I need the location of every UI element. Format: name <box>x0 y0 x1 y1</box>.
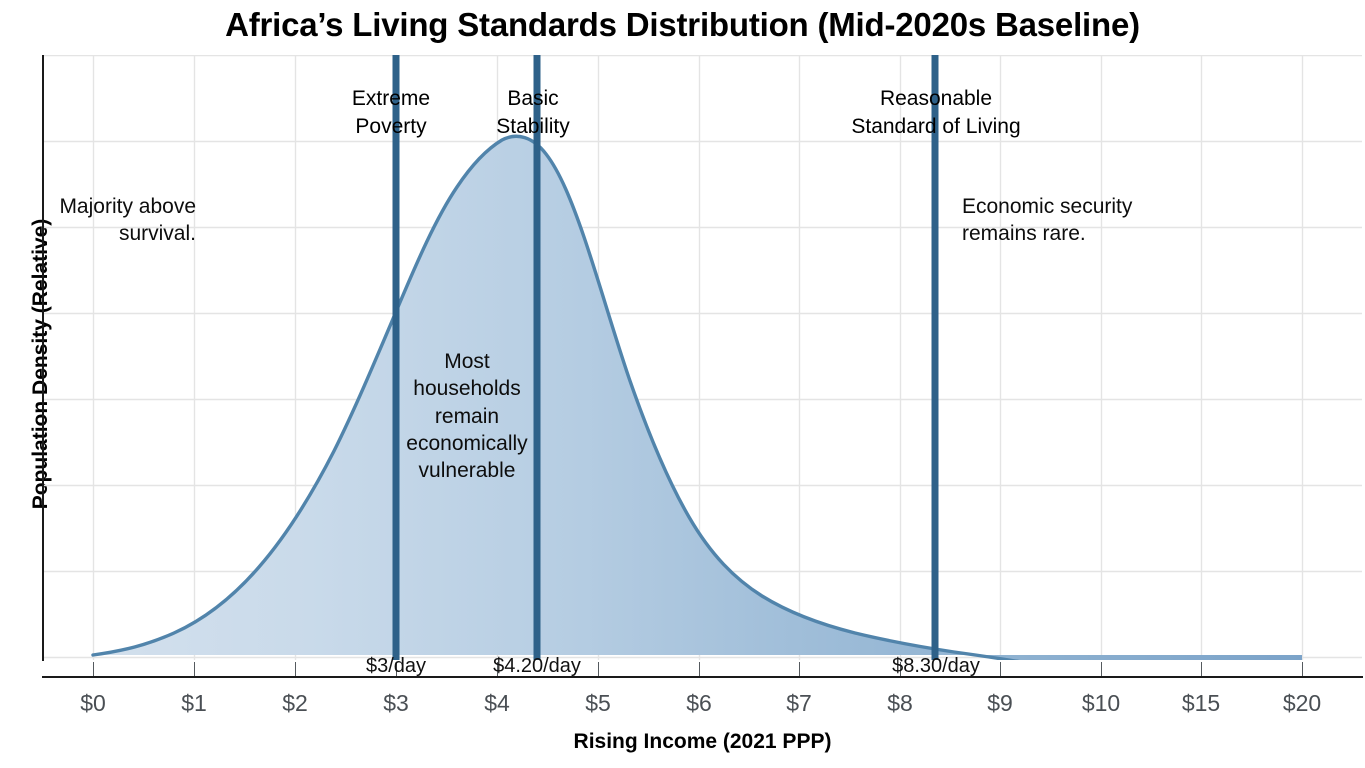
x-tick-label: $10 <box>1082 690 1120 717</box>
x-tick-label: $4 <box>484 690 510 717</box>
x-tick-label: $3 <box>383 690 409 717</box>
plot-area <box>43 55 1362 660</box>
x-tick-mark <box>699 662 700 676</box>
annotation-economic-security-rare: Economic security remains rare. <box>962 193 1192 248</box>
x-tick-label: $2 <box>282 690 308 717</box>
threshold-label-basic-stability: Basic Stability <box>496 85 570 140</box>
x-tick-label: $1 <box>181 690 207 717</box>
annotation-majority-above-survival: Majority above survival. <box>24 193 196 248</box>
x-tick-label: $5 <box>585 690 611 717</box>
chart-root: Africa’s Living Standards Distribution (… <box>0 0 1365 768</box>
annotation-most-households-vulnerable: Most households remain economically vuln… <box>377 348 557 484</box>
threshold-line-reasonable-standard <box>932 55 939 660</box>
threshold-value-extreme-poverty: $3/day <box>366 655 426 678</box>
x-tick-mark <box>1201 662 1202 676</box>
x-tick-label: $6 <box>686 690 712 717</box>
y-axis-spine <box>42 55 44 661</box>
x-tick-mark <box>295 662 296 676</box>
x-tick-mark <box>1000 662 1001 676</box>
x-tick-mark <box>1101 662 1102 676</box>
x-tick-label: $15 <box>1182 690 1220 717</box>
distribution-plot-svg <box>43 55 1362 660</box>
x-tick-mark <box>799 662 800 676</box>
x-tick-label: $20 <box>1283 690 1321 717</box>
x-tick-label: $7 <box>786 690 812 717</box>
threshold-label-extreme-poverty: Extreme Poverty <box>352 85 430 140</box>
x-tick-label: $0 <box>80 690 106 717</box>
threshold-value-basic-stability: $4.20/day <box>493 655 581 678</box>
x-tick-mark <box>93 662 94 676</box>
x-tick-mark <box>194 662 195 676</box>
x-tick-label: $8 <box>887 690 913 717</box>
threshold-label-reasonable-standard: Reasonable Standard of Living <box>851 85 1020 140</box>
x-tick-mark <box>1302 662 1303 676</box>
x-tick-mark <box>598 662 599 676</box>
x-tick-label: $9 <box>987 690 1013 717</box>
x-axis-spine <box>42 676 1363 678</box>
x-axis-label: Rising Income (2021 PPP) <box>43 730 1362 754</box>
threshold-value-reasonable-standard: $8.30/day <box>892 655 980 678</box>
chart-title: Africa’s Living Standards Distribution (… <box>0 6 1365 44</box>
